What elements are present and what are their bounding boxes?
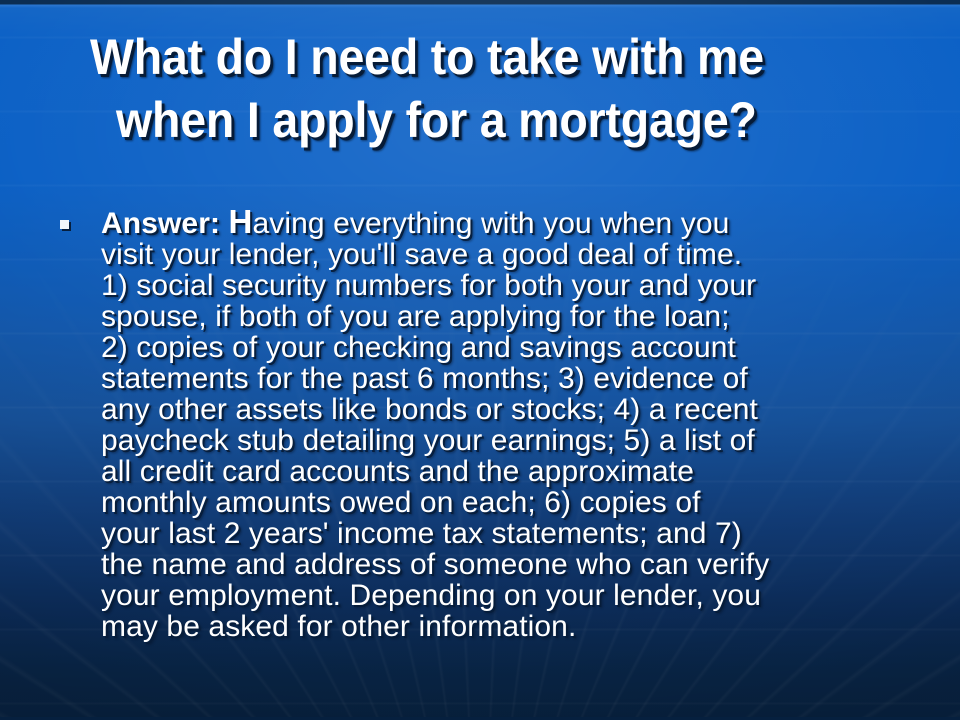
answer-paragraph: Answer: Having everything with you when … <box>101 206 936 642</box>
answer-line-9: all credit card accounts and the approxi… <box>101 456 936 487</box>
answer-line-13: your employment. Depending on your lende… <box>101 580 936 611</box>
answer-line-5: 2) copies of your checking and savings a… <box>101 332 936 363</box>
answer-line-14: may be asked for other information. <box>101 611 936 642</box>
answer-line-1-text: aving everything with you when you <box>252 207 729 240</box>
answer-dropcap: H <box>229 203 253 240</box>
slide-title: What do I need to take with me when I ap… <box>90 26 862 152</box>
answer-line-3: 1) social security numbers for both your… <box>101 270 936 301</box>
answer-line-8: paycheck stub detailing your earnings; 5… <box>101 425 936 456</box>
answer-line-7: any other assets like bonds or stocks; 4… <box>101 394 936 425</box>
answer-line-10: monthly amounts owed on each; 6) copies … <box>101 487 936 518</box>
slide-title-line-1: What do I need to take with me <box>90 26 862 89</box>
square-bullet-icon <box>60 220 69 229</box>
slide-title-line-2: when I apply for a mortgage? <box>116 89 862 152</box>
slide-content: What do I need to take with me when I ap… <box>0 0 960 720</box>
answer-line-1: Answer: Having everything with you when … <box>101 206 936 239</box>
answer-line-6: statements for the past 6 months; 3) evi… <box>101 363 936 394</box>
answer-line-4: spouse, if both of you are applying for … <box>101 301 936 332</box>
answer-line-12: the name and address of someone who can … <box>101 549 936 580</box>
answer-label: Answer: <box>101 207 220 240</box>
answer-line-11: your last 2 years' income tax statements… <box>101 518 936 549</box>
slide-body: Answer: Having everything with you when … <box>56 206 936 642</box>
bullet-list-item: Answer: Having everything with you when … <box>56 206 936 642</box>
answer-line-2: visit your lender, you'll save a good de… <box>101 239 936 270</box>
presentation-slide: What do I need to take with me when I ap… <box>0 0 960 720</box>
